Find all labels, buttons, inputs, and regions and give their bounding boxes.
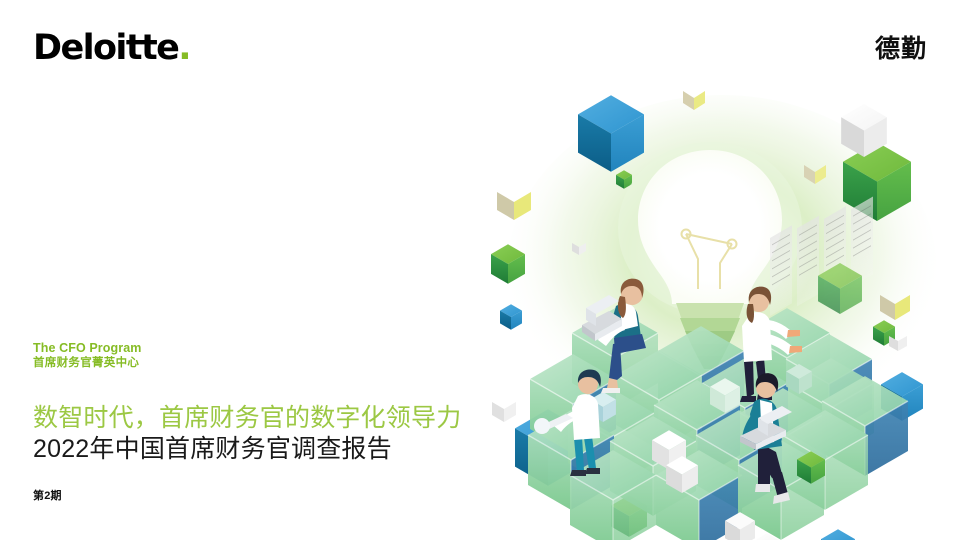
cfo-program-label: The CFO Program 首席财务官菁英中心 <box>33 341 141 371</box>
isometric-cubes-lightbulb-illustration <box>470 58 960 540</box>
page-subtitle: 2022年中国首席财务官调查报告 <box>33 434 461 465</box>
deloitte-logo-dot: . <box>178 28 190 68</box>
page-title: 数智时代，首席财务官的数字化领导力 <box>33 403 461 433</box>
title-block: 数智时代，首席财务官的数字化领导力 2022年中国首席财务官调查报告 <box>33 403 461 465</box>
deloitte-logo: Deloitte. <box>33 31 190 66</box>
deloitte-logo-text: Deloitte <box>33 28 178 68</box>
cfo-program-label-cn: 首席财务官菁英中心 <box>33 356 141 371</box>
issue-label: 第2期 <box>33 489 62 503</box>
slide-canvas: Deloitte. 德勤 The CFO Program 首席财务官菁英中心 数… <box>0 0 960 540</box>
cfo-program-label-en: The CFO Program <box>33 341 141 356</box>
